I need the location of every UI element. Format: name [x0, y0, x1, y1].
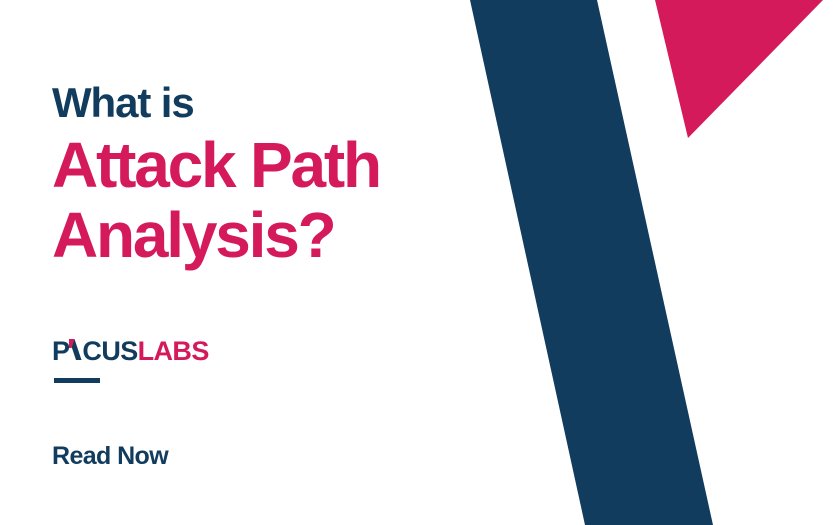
headline-line-1: Attack Path: [52, 130, 482, 200]
logo-text-labs: LABS: [138, 338, 209, 365]
content-column: What is Attack Path Analysis? P CUS LABS: [52, 0, 472, 525]
logo-divider-bar: [54, 378, 100, 383]
read-now-link[interactable]: Read Now: [52, 442, 168, 471]
picus-i-arrow-mark: [69, 339, 82, 360]
logo-text-cus: CUS: [82, 338, 137, 365]
logo-text-p: P: [52, 338, 69, 365]
eyebrow-text: What is: [52, 82, 194, 124]
picuslabs-logo: P CUS LABS: [52, 338, 209, 364]
promo-card: What is Attack Path Analysis? P CUS LABS: [0, 0, 835, 525]
navy-slanted-band: [470, 0, 713, 525]
page-title: Attack Path Analysis?: [52, 130, 482, 270]
pink-triangle: [655, 0, 823, 138]
headline-line-2: Analysis?: [52, 200, 482, 270]
brand-logo-block: P CUS LABS: [52, 338, 209, 364]
